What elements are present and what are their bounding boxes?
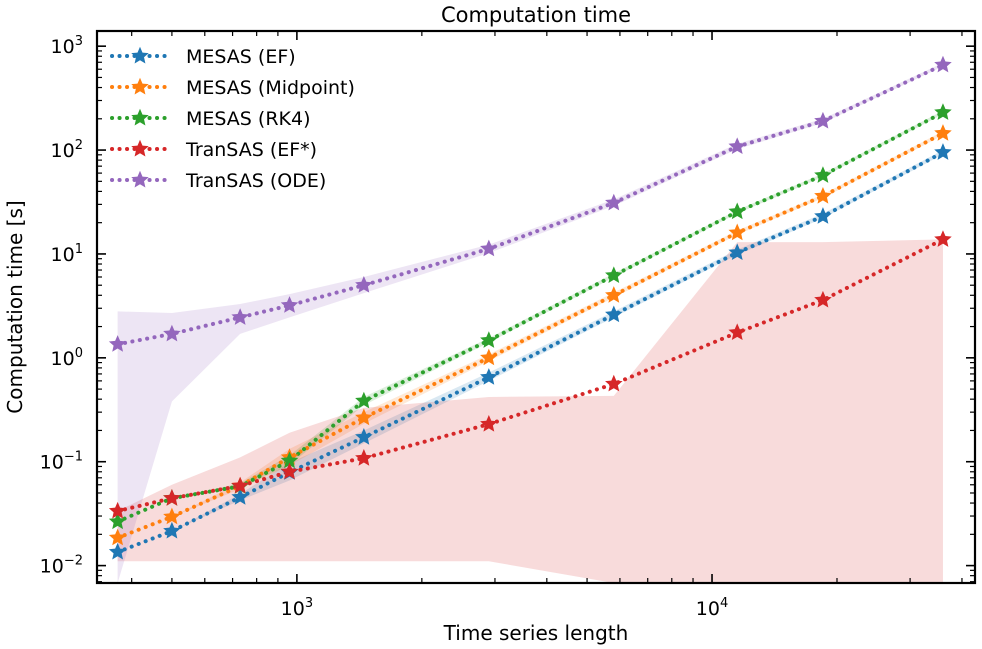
legend-entry-4[interactable]: TranSAS (ODE) <box>112 170 326 192</box>
legend-star-icon <box>131 78 149 95</box>
y-tick-label-5: 103 <box>51 34 83 58</box>
legend-entry-3[interactable]: TranSAS (EF*) <box>112 139 317 161</box>
legend-label: MESAS (Midpoint) <box>186 77 355 99</box>
legend-star-icon <box>131 171 149 188</box>
x-tick-label-1: 104 <box>696 596 728 620</box>
legend-label: TranSAS (EF*) <box>185 139 317 161</box>
data-point-marker <box>934 56 952 73</box>
uncertainty-band-3 <box>118 239 943 583</box>
legend-label: MESAS (EF) <box>186 46 296 68</box>
y-tick-label-2: 100 <box>51 346 83 370</box>
legend-entry-0[interactable]: MESAS (EF) <box>112 46 296 68</box>
legend-star-icon <box>131 140 149 157</box>
legend-star-icon <box>131 47 149 64</box>
legend-entry-2[interactable]: MESAS (RK4) <box>112 108 310 130</box>
legend-label: TranSAS (ODE) <box>185 170 326 192</box>
data-point-marker <box>814 187 832 204</box>
data-point-marker <box>814 112 832 129</box>
data-point-marker <box>934 103 952 120</box>
legend-star-icon <box>131 109 149 126</box>
chart-title: Computation time <box>441 3 631 27</box>
x-tick-label-0: 103 <box>281 596 313 620</box>
data-point-marker <box>814 207 832 224</box>
y-tick-label-3: 101 <box>51 242 83 266</box>
figure-canvas: 10310410−210−1100101102103 MESAS (EF)MES… <box>0 0 982 649</box>
computation-time-chart: 10310410−210−1100101102103 MESAS (EF)MES… <box>0 0 982 649</box>
y-tick-label-1: 10−1 <box>40 450 83 474</box>
legend-label: MESAS (RK4) <box>186 108 310 130</box>
x-axis-title: Time series length <box>443 621 629 645</box>
data-point-marker <box>814 166 832 183</box>
legend[interactable]: MESAS (EF)MESAS (Midpoint)MESAS (RK4)Tra… <box>112 46 355 192</box>
y-axis-title: Computation time [s] <box>3 200 27 413</box>
legend-entry-1[interactable]: MESAS (Midpoint) <box>112 77 355 99</box>
y-tick-label-4: 102 <box>51 138 83 162</box>
y-tick-label-0: 10−2 <box>40 554 83 578</box>
